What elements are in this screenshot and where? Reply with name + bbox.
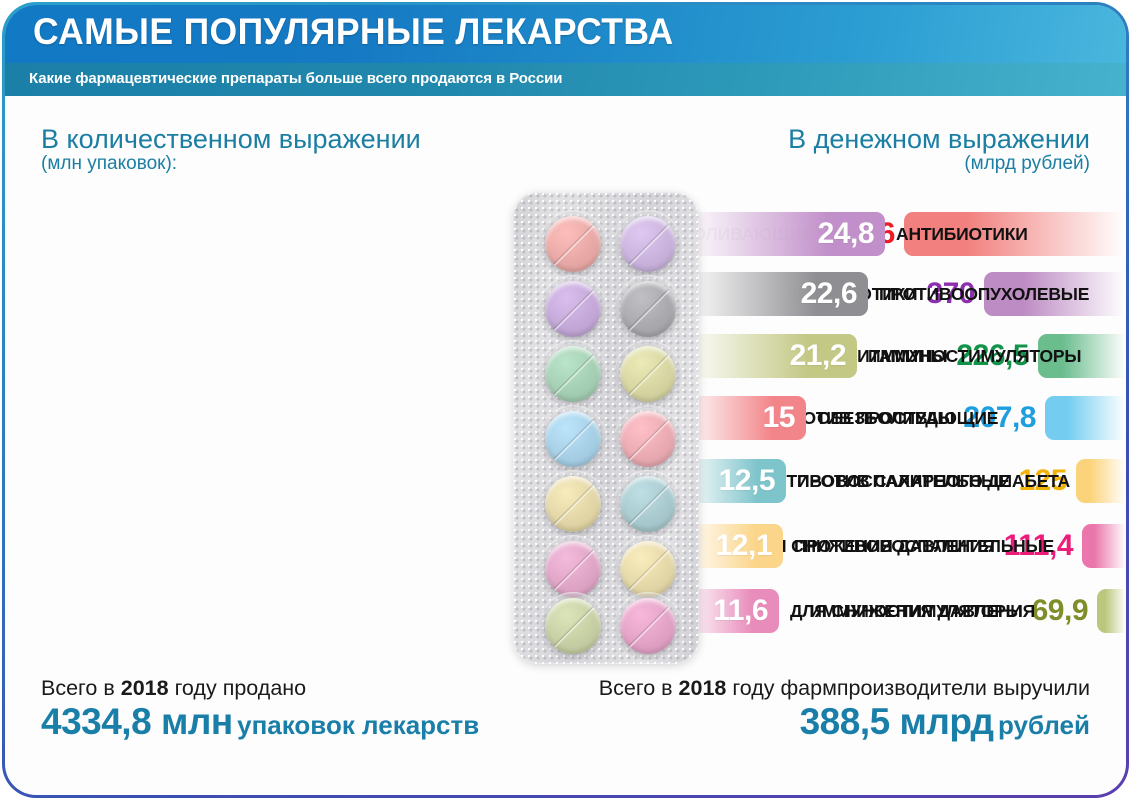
section-right-unit: (млрд рублей) bbox=[788, 154, 1090, 174]
right-bar-value-label: 24,8 bbox=[818, 217, 885, 251]
right-bar-category-label: ДЛЯ СНИЖЕНИЯ ДАВЛЕНИЯ bbox=[790, 601, 1035, 622]
right-bar-fill: 22,6 bbox=[685, 272, 868, 316]
pill-tablet bbox=[545, 216, 601, 272]
page-subtitle: Какие фармацевтические препараты больше … bbox=[29, 70, 562, 87]
pill-blister-well bbox=[539, 470, 607, 538]
right-bar-row: 12,5ПРОТИВ САХАРНОГО ДИАБЕТА bbox=[685, 458, 1122, 504]
section-heading-right: В денежном выражении (млрд рублей) bbox=[788, 125, 1090, 174]
right-bar-category-label: ОБЕЗБОЛИВАЮЩИЕ bbox=[817, 408, 998, 429]
total-left-number: 4334,8 млн bbox=[41, 701, 233, 742]
right-bar-category-label: ПРОТИВОВОСПАЛИТЕЛЬНЫЕ bbox=[794, 536, 1054, 557]
page-frame-border: САМЫЕ ПОПУЛЯРНЫЕ ЛЕКАРСТВА Какие фармаце… bbox=[2, 2, 1129, 798]
pill-tablet bbox=[545, 281, 601, 337]
right-bar-row: 21,2ИММУНОСТИМУЛЯТОРЫ bbox=[685, 333, 1122, 379]
pill-blister-well bbox=[614, 470, 682, 538]
total-right-unit: рублей bbox=[998, 710, 1090, 740]
section-left-title: В количественном выражении bbox=[41, 125, 421, 154]
total-revenue-summary: Всего в 2018 году фармпроизводители выру… bbox=[599, 677, 1090, 742]
right-bar-value-label: 15 bbox=[763, 401, 806, 435]
total-left-suffix: году продано bbox=[169, 676, 307, 700]
pill-blister-well bbox=[614, 592, 682, 660]
pill-tablet bbox=[545, 598, 601, 654]
right-bar-value-label: 11,6 bbox=[713, 594, 779, 628]
pill-blister-well bbox=[539, 340, 607, 408]
pill-blister-pack-image bbox=[513, 192, 699, 664]
total-packages-summary: Всего в 2018 году продано 4334,8 млн упа… bbox=[41, 677, 479, 742]
right-bar-fill: 11,6 bbox=[685, 589, 779, 633]
right-bar-category-label: ПРОТИВ САХАРНОГО ДИАБЕТА bbox=[797, 471, 1070, 492]
pill-blister-well bbox=[614, 405, 682, 473]
pill-blister-well bbox=[539, 405, 607, 473]
right-bar-value-label: 12,5 bbox=[719, 464, 786, 498]
total-left-year: 2018 bbox=[121, 676, 169, 700]
subheader-banner: Какие фармацевтические препараты больше … bbox=[5, 63, 1126, 96]
pill-tablet bbox=[545, 476, 601, 532]
total-right-value-line: 388,5 млрд рублей bbox=[599, 702, 1090, 742]
page-title: САМЫЕ ПОПУЛЯРНЫЕ ЛЕКАРСТВА bbox=[33, 11, 674, 53]
pill-tablet bbox=[620, 598, 676, 654]
total-left-prefix: Всего в bbox=[41, 676, 121, 700]
right-bar-category-label: ПРОТИВООПУХОЛЕВЫЕ bbox=[879, 284, 1089, 305]
section-right-title: В денежном выражении bbox=[788, 125, 1090, 154]
pill-tablet bbox=[545, 411, 601, 467]
right-bar-category-label: ИММУНОСТИМУЛЯТОРЫ bbox=[868, 346, 1081, 367]
header-banner: САМЫЕ ПОПУЛЯРНЫЕ ЛЕКАРСТВА bbox=[5, 5, 1126, 63]
infographic-page: САМЫЕ ПОПУЛЯРНЫЕ ЛЕКАРСТВА Какие фармаце… bbox=[0, 0, 1131, 800]
right-bar-value-label: 21,2 bbox=[790, 339, 857, 373]
pill-tablet bbox=[620, 346, 676, 402]
right-bar-row: 11,6ДЛЯ СНИЖЕНИЯ ДАВЛЕНИЯ bbox=[685, 588, 1122, 634]
right-bar-row: 15ОБЕЗБОЛИВАЮЩИЕ bbox=[685, 395, 1122, 441]
section-heading-left: В количественном выражении (млн упаковок… bbox=[41, 125, 421, 174]
pill-tablet bbox=[620, 541, 676, 597]
right-bar-row: 22,6ПРОТИВООПУХОЛЕВЫЕ bbox=[685, 271, 1122, 317]
total-left-value-line: 4334,8 млн упаковок лекарств bbox=[41, 702, 479, 742]
pill-tablet bbox=[620, 216, 676, 272]
total-left-caption: Всего в 2018 году продано bbox=[41, 677, 479, 700]
right-bar-value-label: 22,6 bbox=[801, 277, 868, 311]
total-right-suffix: году фармпроизводители выручили bbox=[726, 676, 1090, 700]
right-bar-value-label: 12,1 bbox=[716, 529, 783, 563]
pill-tablet bbox=[620, 476, 676, 532]
total-left-unit: упаковок лекарств bbox=[237, 710, 479, 740]
total-right-caption: Всего в 2018 году фармпроизводители выру… bbox=[599, 677, 1090, 700]
page-frame-inner: САМЫЕ ПОПУЛЯРНЫЕ ЛЕКАРСТВА Какие фармаце… bbox=[5, 5, 1126, 795]
right-bar-row: 24,8АНТИБИОТИКИ bbox=[685, 211, 1122, 257]
section-left-unit: (млн упаковок): bbox=[41, 154, 421, 174]
pill-tablet bbox=[545, 346, 601, 402]
right-bar-fill: 15 bbox=[685, 396, 806, 440]
pill-blister-well bbox=[614, 340, 682, 408]
pill-tablet bbox=[620, 281, 676, 337]
pill-tablet bbox=[620, 411, 676, 467]
pill-tablet bbox=[545, 541, 601, 597]
right-bar-category-label: АНТИБИОТИКИ bbox=[896, 224, 1028, 245]
right-bar-fill: 21,2 bbox=[685, 334, 857, 378]
total-right-prefix: Всего в bbox=[599, 676, 679, 700]
pill-blister-well bbox=[539, 592, 607, 660]
right-bar-fill: 24,8 bbox=[685, 212, 885, 256]
pill-blister-well bbox=[614, 210, 682, 278]
right-bar-row: 12,1ПРОТИВОВОСПАЛИТЕЛЬНЫЕ bbox=[685, 523, 1122, 569]
total-right-number: 388,5 млрд bbox=[800, 701, 994, 742]
right-bar-fill: 12,5 bbox=[685, 459, 786, 503]
pill-blister-well bbox=[539, 275, 607, 343]
pill-blister-well bbox=[539, 210, 607, 278]
pill-blister-well bbox=[614, 275, 682, 343]
right-bar-fill: 12,1 bbox=[685, 524, 783, 568]
total-right-year: 2018 bbox=[679, 676, 727, 700]
